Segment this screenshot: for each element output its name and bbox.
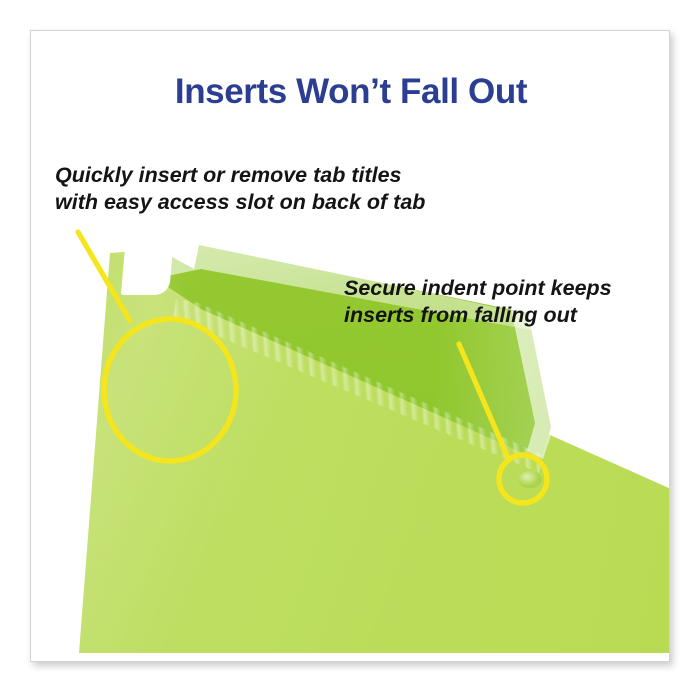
screenshot-stage: Inserts Won’t Fall Out Quickly insert or… [0, 0, 700, 700]
callout-text-access-slot: Quickly insert or remove tab titles with… [55, 162, 425, 216]
product-photo [31, 31, 670, 662]
callout-text-indent-point: Secure indent point keeps inserts from f… [344, 275, 612, 329]
tab-access-slot-notch [121, 247, 173, 295]
product-photo-card: Inserts Won’t Fall Out Quickly insert or… [30, 30, 670, 662]
secure-indent-point [518, 471, 542, 488]
